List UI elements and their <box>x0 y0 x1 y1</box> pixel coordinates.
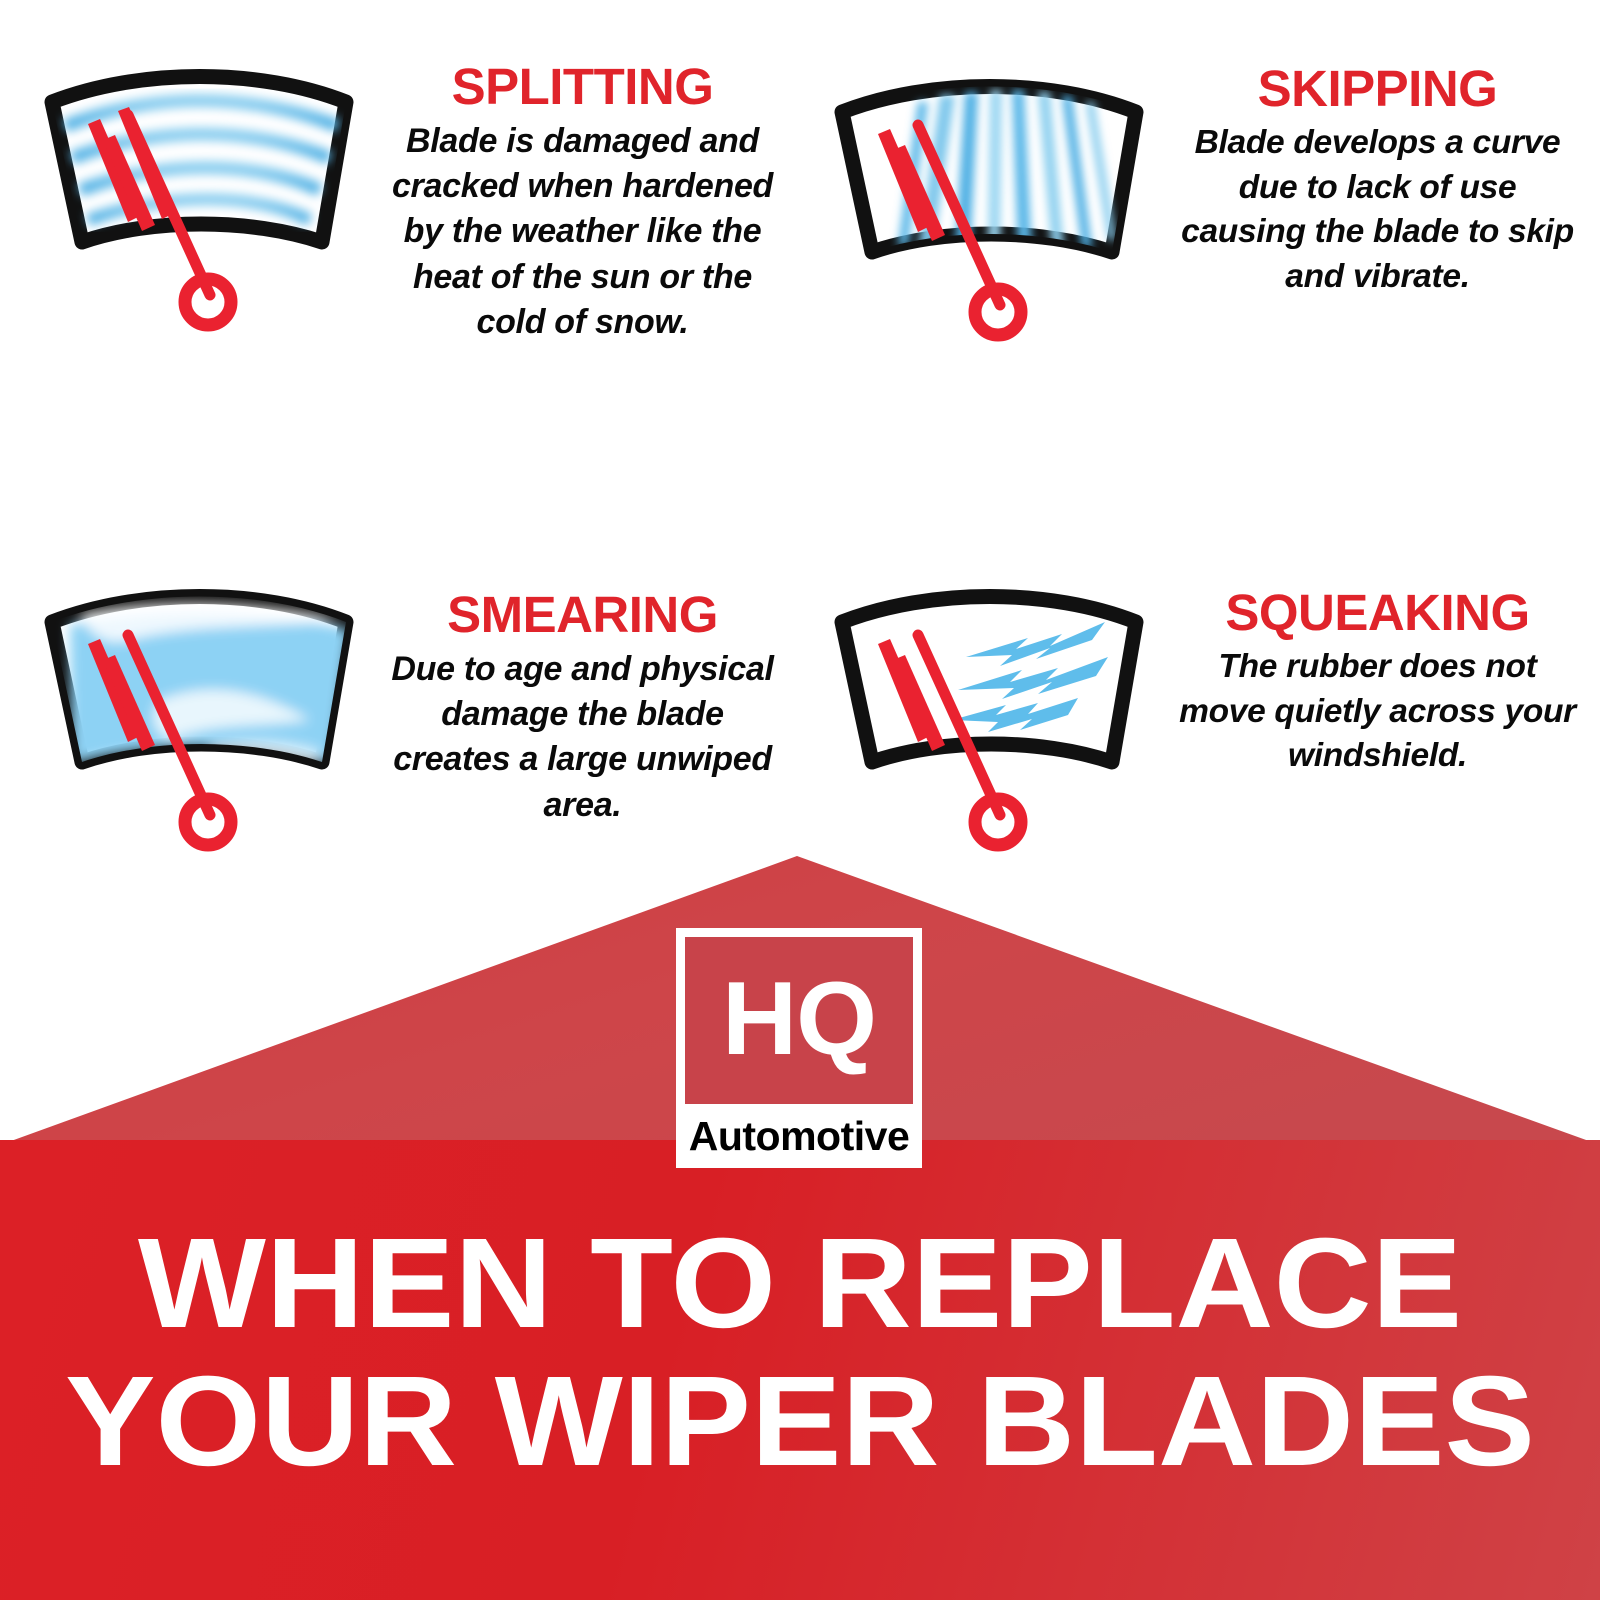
panel-text-squeaking: SQUEAKING The rubber does not move quiet… <box>1175 550 1580 779</box>
panel-splitting: SPLITTING Blade is damaged and cracked w… <box>10 30 780 420</box>
panel-text-smearing: SMEARING Due to age and physical damage … <box>385 550 780 828</box>
panel-description: Blade develops a curve due to lack of us… <box>1175 121 1580 299</box>
windshield-wiper-smearing-icon <box>10 550 385 860</box>
headline-line-2: YOUR WIPER BLADES <box>0 1353 1600 1491</box>
windshield-wiper-splitting-icon <box>10 30 385 350</box>
logo-mark-box: HQ <box>685 937 913 1104</box>
logo-mark-text: HQ <box>722 967 876 1071</box>
hq-automotive-logo: HQ Automotive <box>676 928 922 1168</box>
panel-title: SMEARING <box>385 588 780 641</box>
headline-line-1: WHEN TO REPLACE <box>0 1215 1600 1353</box>
panel-description: Blade is damaged and cracked when harden… <box>385 119 780 345</box>
panel-text-splitting: SPLITTING Blade is damaged and cracked w… <box>385 30 780 345</box>
panel-squeaking: SQUEAKING The rubber does not move quiet… <box>800 550 1580 850</box>
panel-skipping: SKIPPING Blade develops a curve due to l… <box>800 40 1580 420</box>
panel-description: The rubber does not move quietly across … <box>1175 645 1580 779</box>
panel-title: SKIPPING <box>1175 62 1580 115</box>
windshield-wiper-squeaking-icon <box>800 550 1175 860</box>
panel-description: Due to age and physical damage the blade… <box>385 647 780 828</box>
windshield-wiper-skipping-icon <box>800 40 1175 360</box>
panel-text-skipping: SKIPPING Blade develops a curve due to l… <box>1175 40 1580 299</box>
headline: WHEN TO REPLACE YOUR WIPER BLADES <box>0 1215 1600 1491</box>
logo-wordmark: Automotive <box>685 1104 913 1168</box>
panel-title: SQUEAKING <box>1175 586 1580 639</box>
panel-title: SPLITTING <box>385 60 780 113</box>
panel-smearing: SMEARING Due to age and physical damage … <box>10 550 780 860</box>
problem-panels-grid: SPLITTING Blade is damaged and cracked w… <box>0 0 1600 860</box>
